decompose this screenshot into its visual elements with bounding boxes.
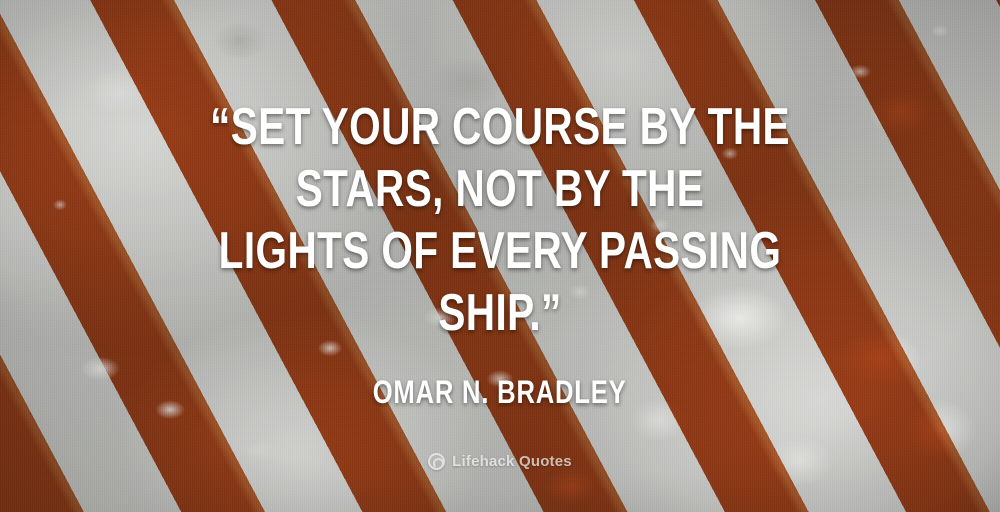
watermark: Lifehack Quotes (428, 453, 572, 470)
quote-content: “SET YOUR COURSE BY THE STARS, NOT BY TH… (0, 0, 1000, 512)
quote-author: OMAR N. BRADLEY (373, 374, 627, 411)
quote-image-canvas: “SET YOUR COURSE BY THE STARS, NOT BY TH… (0, 0, 1000, 512)
watermark-label: Lifehack Quotes (452, 453, 572, 470)
quote-text: “SET YOUR COURSE BY THE STARS, NOT BY TH… (157, 96, 843, 344)
copyright-circle-icon (428, 453, 445, 470)
